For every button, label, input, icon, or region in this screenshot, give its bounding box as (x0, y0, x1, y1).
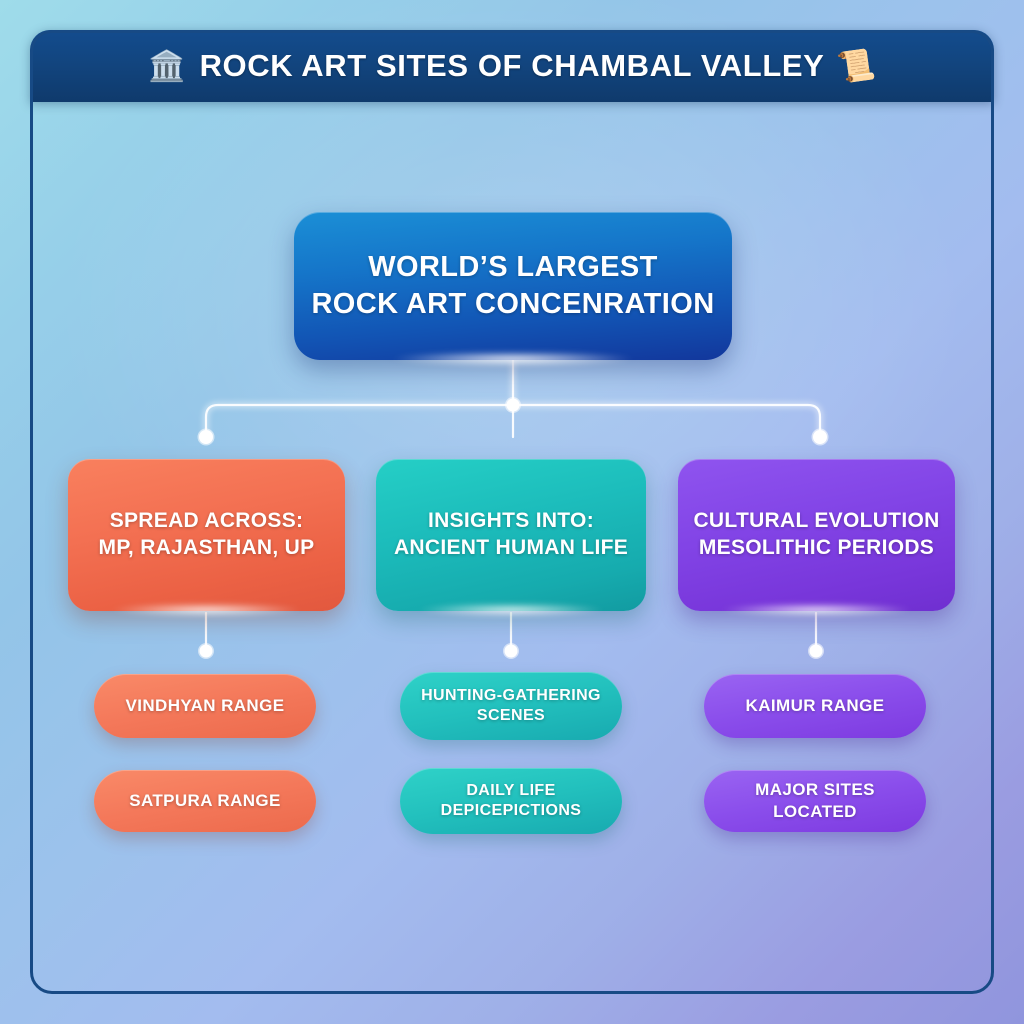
branch-card-cultural-evolution[interactable]: CULTURAL EVOLUTION MESOLITHIC PERIODS (678, 459, 955, 611)
leaf-2-2-line-1: DAILY LIFE (466, 781, 555, 801)
classical-building-icon: 🏛️ (148, 52, 185, 82)
branch-card-insights-into[interactable]: INSIGHTS INTO: ANCIENT HUMAN LIFE (376, 459, 646, 611)
leaf-pill-kaimur-range[interactable]: KAIMUR RANGE (704, 674, 926, 738)
branch-3-line-2: MESOLITHIC PERIODS (699, 535, 934, 562)
leaf-pill-hunting-gathering-scenes[interactable]: HUNTING-GATHERING SCENES (400, 672, 622, 740)
leaf-pill-satpura-range[interactable]: SATPURA RANGE (94, 770, 316, 832)
root-node-line-2: ROCK ART CONCENRATION (311, 286, 714, 323)
leaf-pill-major-sites-located[interactable]: MAJOR SITES LOCATED (704, 770, 926, 832)
leaf-1-1-line-1: VINDHYAN RANGE (126, 695, 285, 717)
branch-1-line-1: SPREAD ACROSS: (110, 508, 304, 535)
leaf-1-2-line-1: SATPURA RANGE (129, 790, 281, 812)
branch-3-line-1: CULTURAL EVOLUTION (693, 508, 939, 535)
page-title: ROCK ART SITES OF CHAMBAL VALLEY (200, 48, 825, 84)
infographic-poster: 🏛️ ROCK ART SITES OF CHAMBAL VALLEY 📜 WO… (0, 0, 1024, 1024)
scroll-icon: 📜 (837, 50, 878, 85)
leaf-3-1-line-1: KAIMUR RANGE (746, 695, 885, 717)
branch-card-spread-across[interactable]: SPREAD ACROSS: MP, RAJASTHAN, UP (68, 459, 345, 611)
branch-2-line-1: INSIGHTS INTO: (428, 508, 594, 535)
leaf-3-2-line-1: MAJOR SITES (755, 779, 875, 801)
leaf-3-2-line-2: LOCATED (773, 801, 857, 823)
branch-2-line-2: ANCIENT HUMAN LIFE (394, 535, 628, 562)
root-node-line-1: WORLD’S LARGEST (368, 249, 658, 286)
leaf-2-1-line-2: SCENES (477, 706, 545, 726)
branch-1-line-2: MP, RAJASTHAN, UP (99, 535, 315, 562)
leaf-2-1-line-1: HUNTING-GATHERING (421, 686, 601, 706)
leaf-pill-daily-life-depictions[interactable]: DAILY LIFE DEPICEPICTIONS (400, 768, 622, 834)
leaf-2-2-line-2: DEPICEPICTIONS (441, 801, 582, 821)
root-node[interactable]: WORLD’S LARGEST ROCK ART CONCENRATION (294, 212, 732, 360)
header-bar: 🏛️ ROCK ART SITES OF CHAMBAL VALLEY 📜 (30, 30, 994, 102)
leaf-pill-vindhyan-range[interactable]: VINDHYAN RANGE (94, 674, 316, 738)
